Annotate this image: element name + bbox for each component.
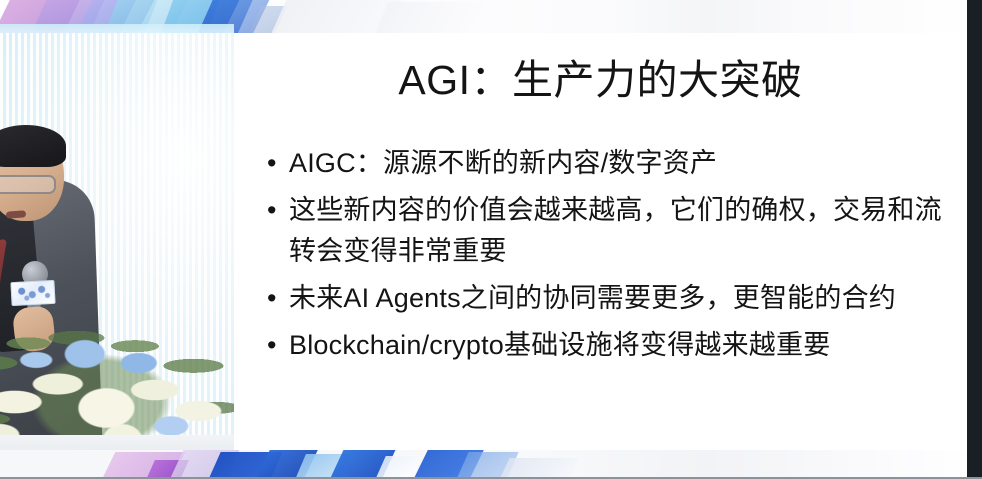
slide-bullet-list: • AIGC：源源不断的新内容/数字资产 • 这些新内容的价值会越来越高，它们的… xyxy=(267,143,957,372)
bullet-marker-icon: • xyxy=(267,325,289,366)
decorative-facet xyxy=(254,450,318,477)
bottom-decorative-band xyxy=(0,450,982,477)
decorative-facet xyxy=(195,0,257,34)
decorative-facet xyxy=(72,0,140,34)
bullet-marker-icon: • xyxy=(267,278,289,319)
decorative-facet xyxy=(207,452,282,477)
decorative-facet xyxy=(169,450,240,477)
decorative-facet xyxy=(294,454,350,477)
bullet-marker-icon: • xyxy=(267,143,289,184)
bullet-item: • Blockchain/crypto基础设施将变得越来越重要 xyxy=(267,325,957,366)
bullet-text: AIGC：源源不断的新内容/数字资产 xyxy=(289,143,957,184)
decorative-facet xyxy=(372,2,498,34)
decorative-facet xyxy=(145,460,189,477)
slide-canvas: AGI：生产力的大突破 • AIGC：源源不断的新内容/数字资产 • 这些新内容… xyxy=(234,33,967,450)
bullet-item: • AIGC：源源不断的新内容/数字资产 xyxy=(267,143,957,184)
decorative-facet xyxy=(0,0,85,34)
decorative-facet xyxy=(221,0,273,34)
top-decorative-band xyxy=(0,0,982,34)
bullet-marker-icon: • xyxy=(267,190,289,231)
decorative-facet xyxy=(101,452,186,477)
decorative-facet xyxy=(101,0,162,34)
decorative-facet xyxy=(269,0,410,34)
speaker-glasses xyxy=(0,175,56,194)
flower-arrangement xyxy=(0,309,234,450)
decorative-facet xyxy=(374,456,422,477)
speaker-hair xyxy=(0,125,66,167)
speaker-mouth xyxy=(6,210,26,218)
decorative-facet xyxy=(329,450,396,477)
speaker-video-overlay xyxy=(0,33,234,450)
decorative-facet xyxy=(455,452,518,477)
decorative-facet xyxy=(134,0,191,34)
podium xyxy=(0,435,234,450)
decorative-facet xyxy=(28,0,111,34)
bullet-item: • 未来AI Agents之间的协同需要更多，更智能的合约 xyxy=(267,278,957,319)
presentation-screenshot: AGI：生产力的大突破 • AIGC：源源不断的新内容/数字资产 • 这些新内容… xyxy=(0,0,982,479)
bullet-text: 这些新内容的价值会越来越高，它们的确权，交易和流转会变得非常重要 xyxy=(289,190,957,272)
bullet-text: 未来AI Agents之间的协同需要更多，更智能的合约 xyxy=(289,278,957,319)
decorative-facet xyxy=(498,458,579,477)
microphone-flag xyxy=(10,280,55,306)
right-frame-border xyxy=(967,0,982,479)
decorative-facet xyxy=(247,6,288,34)
bullet-item: • 这些新内容的价值会越来越高，它们的确权，交易和流转会变得非常重要 xyxy=(267,190,957,272)
decorative-facet xyxy=(159,0,224,34)
slide-title: AGI：生产力的大突破 xyxy=(234,55,967,105)
decorative-facet xyxy=(412,450,484,477)
bullet-text: Blockchain/crypto基础设施将变得越来越重要 xyxy=(289,325,957,366)
